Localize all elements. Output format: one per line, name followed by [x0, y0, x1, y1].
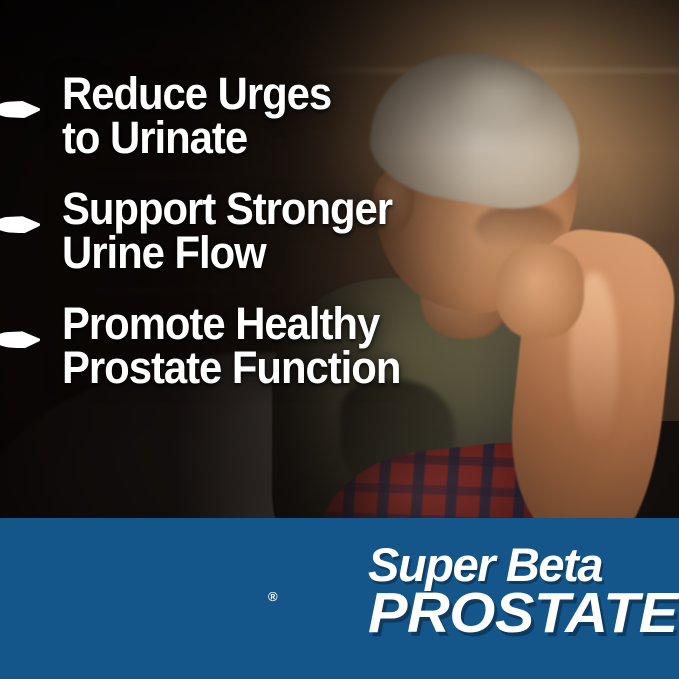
- brand-name-prostate: PROSTATE: [368, 584, 679, 642]
- benefit-list: Reduce Urges to Urinate Support Stronger…: [0, 72, 520, 418]
- bullet-container: [0, 302, 62, 348]
- registered-trademark-symbol: ®: [268, 590, 278, 603]
- dash-bullet-icon: [0, 101, 40, 118]
- bullet-container: [0, 72, 62, 118]
- benefit-item: Support Stronger Urine Flow: [0, 187, 520, 275]
- benefit-item: Reduce Urges to Urinate: [0, 72, 520, 160]
- benefit-text: Support Stronger Urine Flow: [62, 187, 488, 275]
- dash-bullet-icon: [0, 331, 40, 348]
- brand-lockup: Super Beta PROSTATE: [368, 541, 668, 642]
- advertisement-banner: Reduce Urges to Urinate Support Stronger…: [0, 0, 679, 679]
- benefit-text: Promote Healthy Prostate Function: [62, 302, 488, 390]
- benefit-text: Reduce Urges to Urinate: [62, 72, 488, 160]
- benefit-item: Promote Healthy Prostate Function: [0, 302, 520, 390]
- bullet-container: [0, 187, 62, 233]
- dash-bullet-icon: [0, 216, 40, 233]
